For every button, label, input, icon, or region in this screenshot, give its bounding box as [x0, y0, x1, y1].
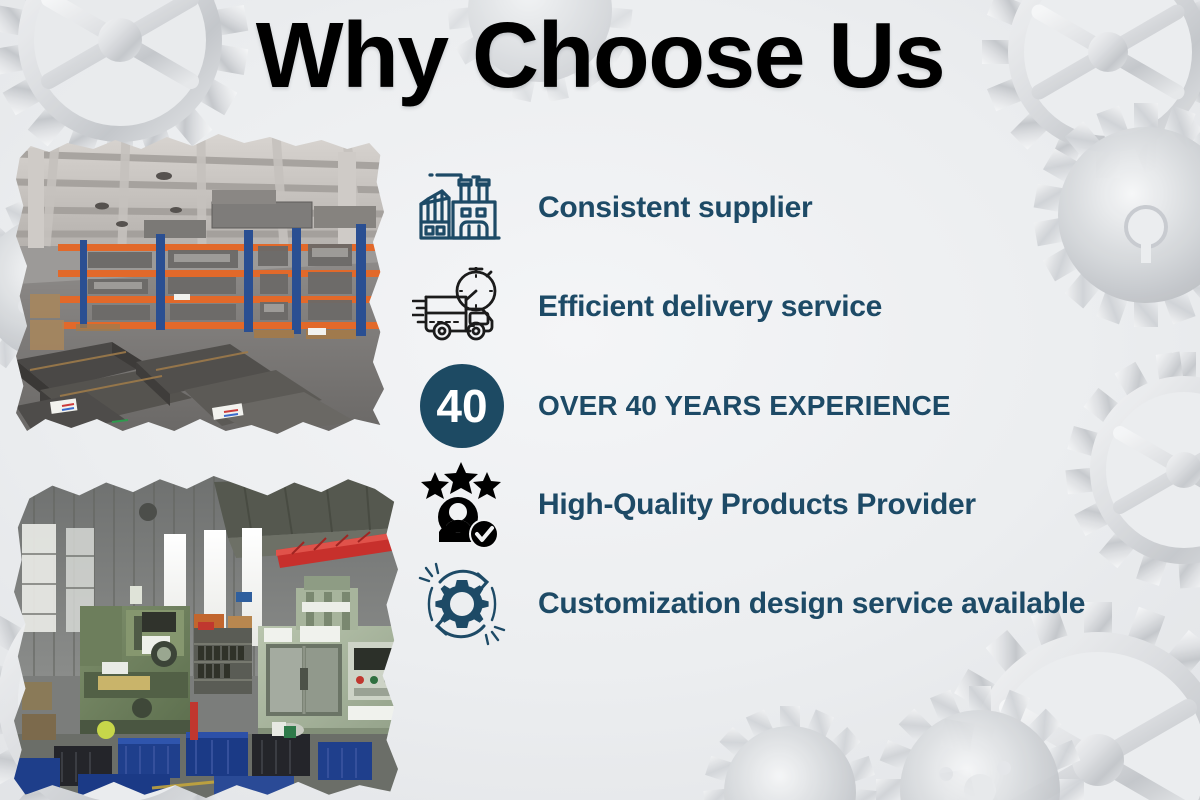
why-choose-us-poster: Why Choose Us — [0, 0, 1200, 800]
feature-label: Consistent supplier — [538, 191, 812, 225]
delivery-truck-icon-svg — [412, 267, 512, 347]
delivery-truck-icon — [410, 261, 514, 353]
factory-icon-svg — [417, 170, 507, 246]
warehouse-photo-art — [16, 134, 384, 434]
customization-gear-icon — [410, 558, 514, 650]
quality-person-stars-icon — [410, 459, 514, 551]
feature-row[interactable]: 40 OVER 40 YEARS EXPERIENCE — [410, 356, 1200, 455]
feature-row[interactable]: High-Quality Products Provider — [410, 455, 1200, 554]
forty-years-badge-icon: 40 — [410, 360, 514, 452]
customization-gear-svg — [416, 560, 508, 648]
feature-label: Efficient delivery service — [538, 290, 882, 324]
factory-floor-photo-art — [14, 476, 398, 798]
factory-icon — [410, 162, 514, 254]
factory-floor-photo — [14, 476, 398, 798]
feature-row[interactable]: Customization design service available — [410, 554, 1200, 653]
feature-row[interactable]: Consistent supplier — [410, 158, 1200, 257]
quality-person-stars-svg — [416, 462, 508, 548]
feature-row[interactable]: Efficient delivery service — [410, 257, 1200, 356]
page-title: Why Choose Us — [0, 8, 1200, 103]
feature-label: OVER 40 YEARS EXPERIENCE — [538, 390, 951, 422]
badge-number: 40 — [436, 380, 487, 432]
forty-years-badge-svg: 40 — [418, 362, 506, 450]
features-list: Consistent supplier — [410, 158, 1200, 653]
feature-label: High-Quality Products Provider — [538, 488, 976, 522]
warehouse-photo — [16, 134, 384, 434]
feature-label: Customization design service available — [538, 587, 1085, 621]
